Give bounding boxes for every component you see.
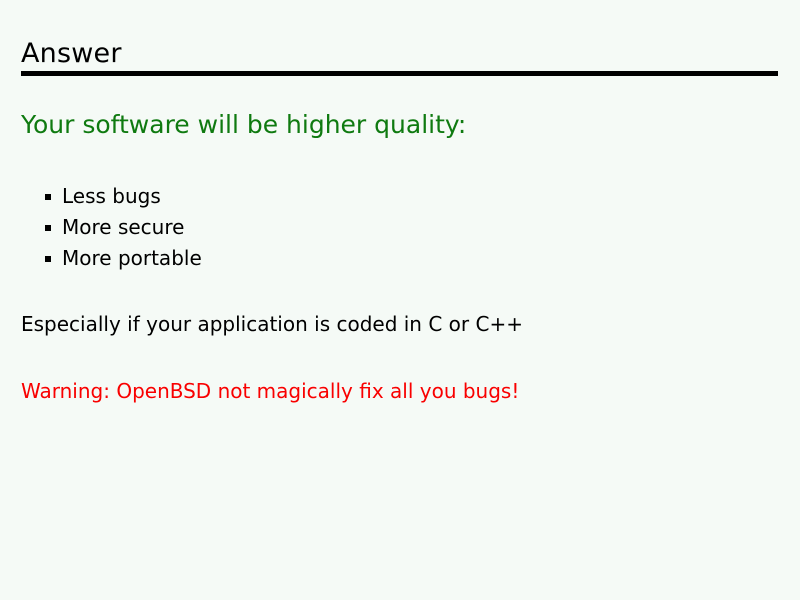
square-bullet-icon <box>45 225 51 231</box>
slide-body: Your software will be higher quality: Le… <box>0 0 800 600</box>
benefits-bullet-list: Less bugs More secure More portable <box>44 185 202 270</box>
list-item: More portable <box>44 247 202 270</box>
headline-text: Your software will be higher quality: <box>21 110 466 140</box>
list-item-label: More secure <box>62 215 184 239</box>
square-bullet-icon <box>45 256 51 262</box>
warning-text: Warning: OpenBSD not magically fix all y… <box>21 379 519 403</box>
note-paragraph: Especially if your application is coded … <box>21 312 523 336</box>
list-item-label: More portable <box>62 246 202 270</box>
list-item: Less bugs <box>44 185 202 208</box>
presentation-slide: Answer Your software will be higher qual… <box>0 0 800 600</box>
list-item: More secure <box>44 216 202 239</box>
list-item-label: Less bugs <box>62 184 161 208</box>
square-bullet-icon <box>45 194 51 200</box>
